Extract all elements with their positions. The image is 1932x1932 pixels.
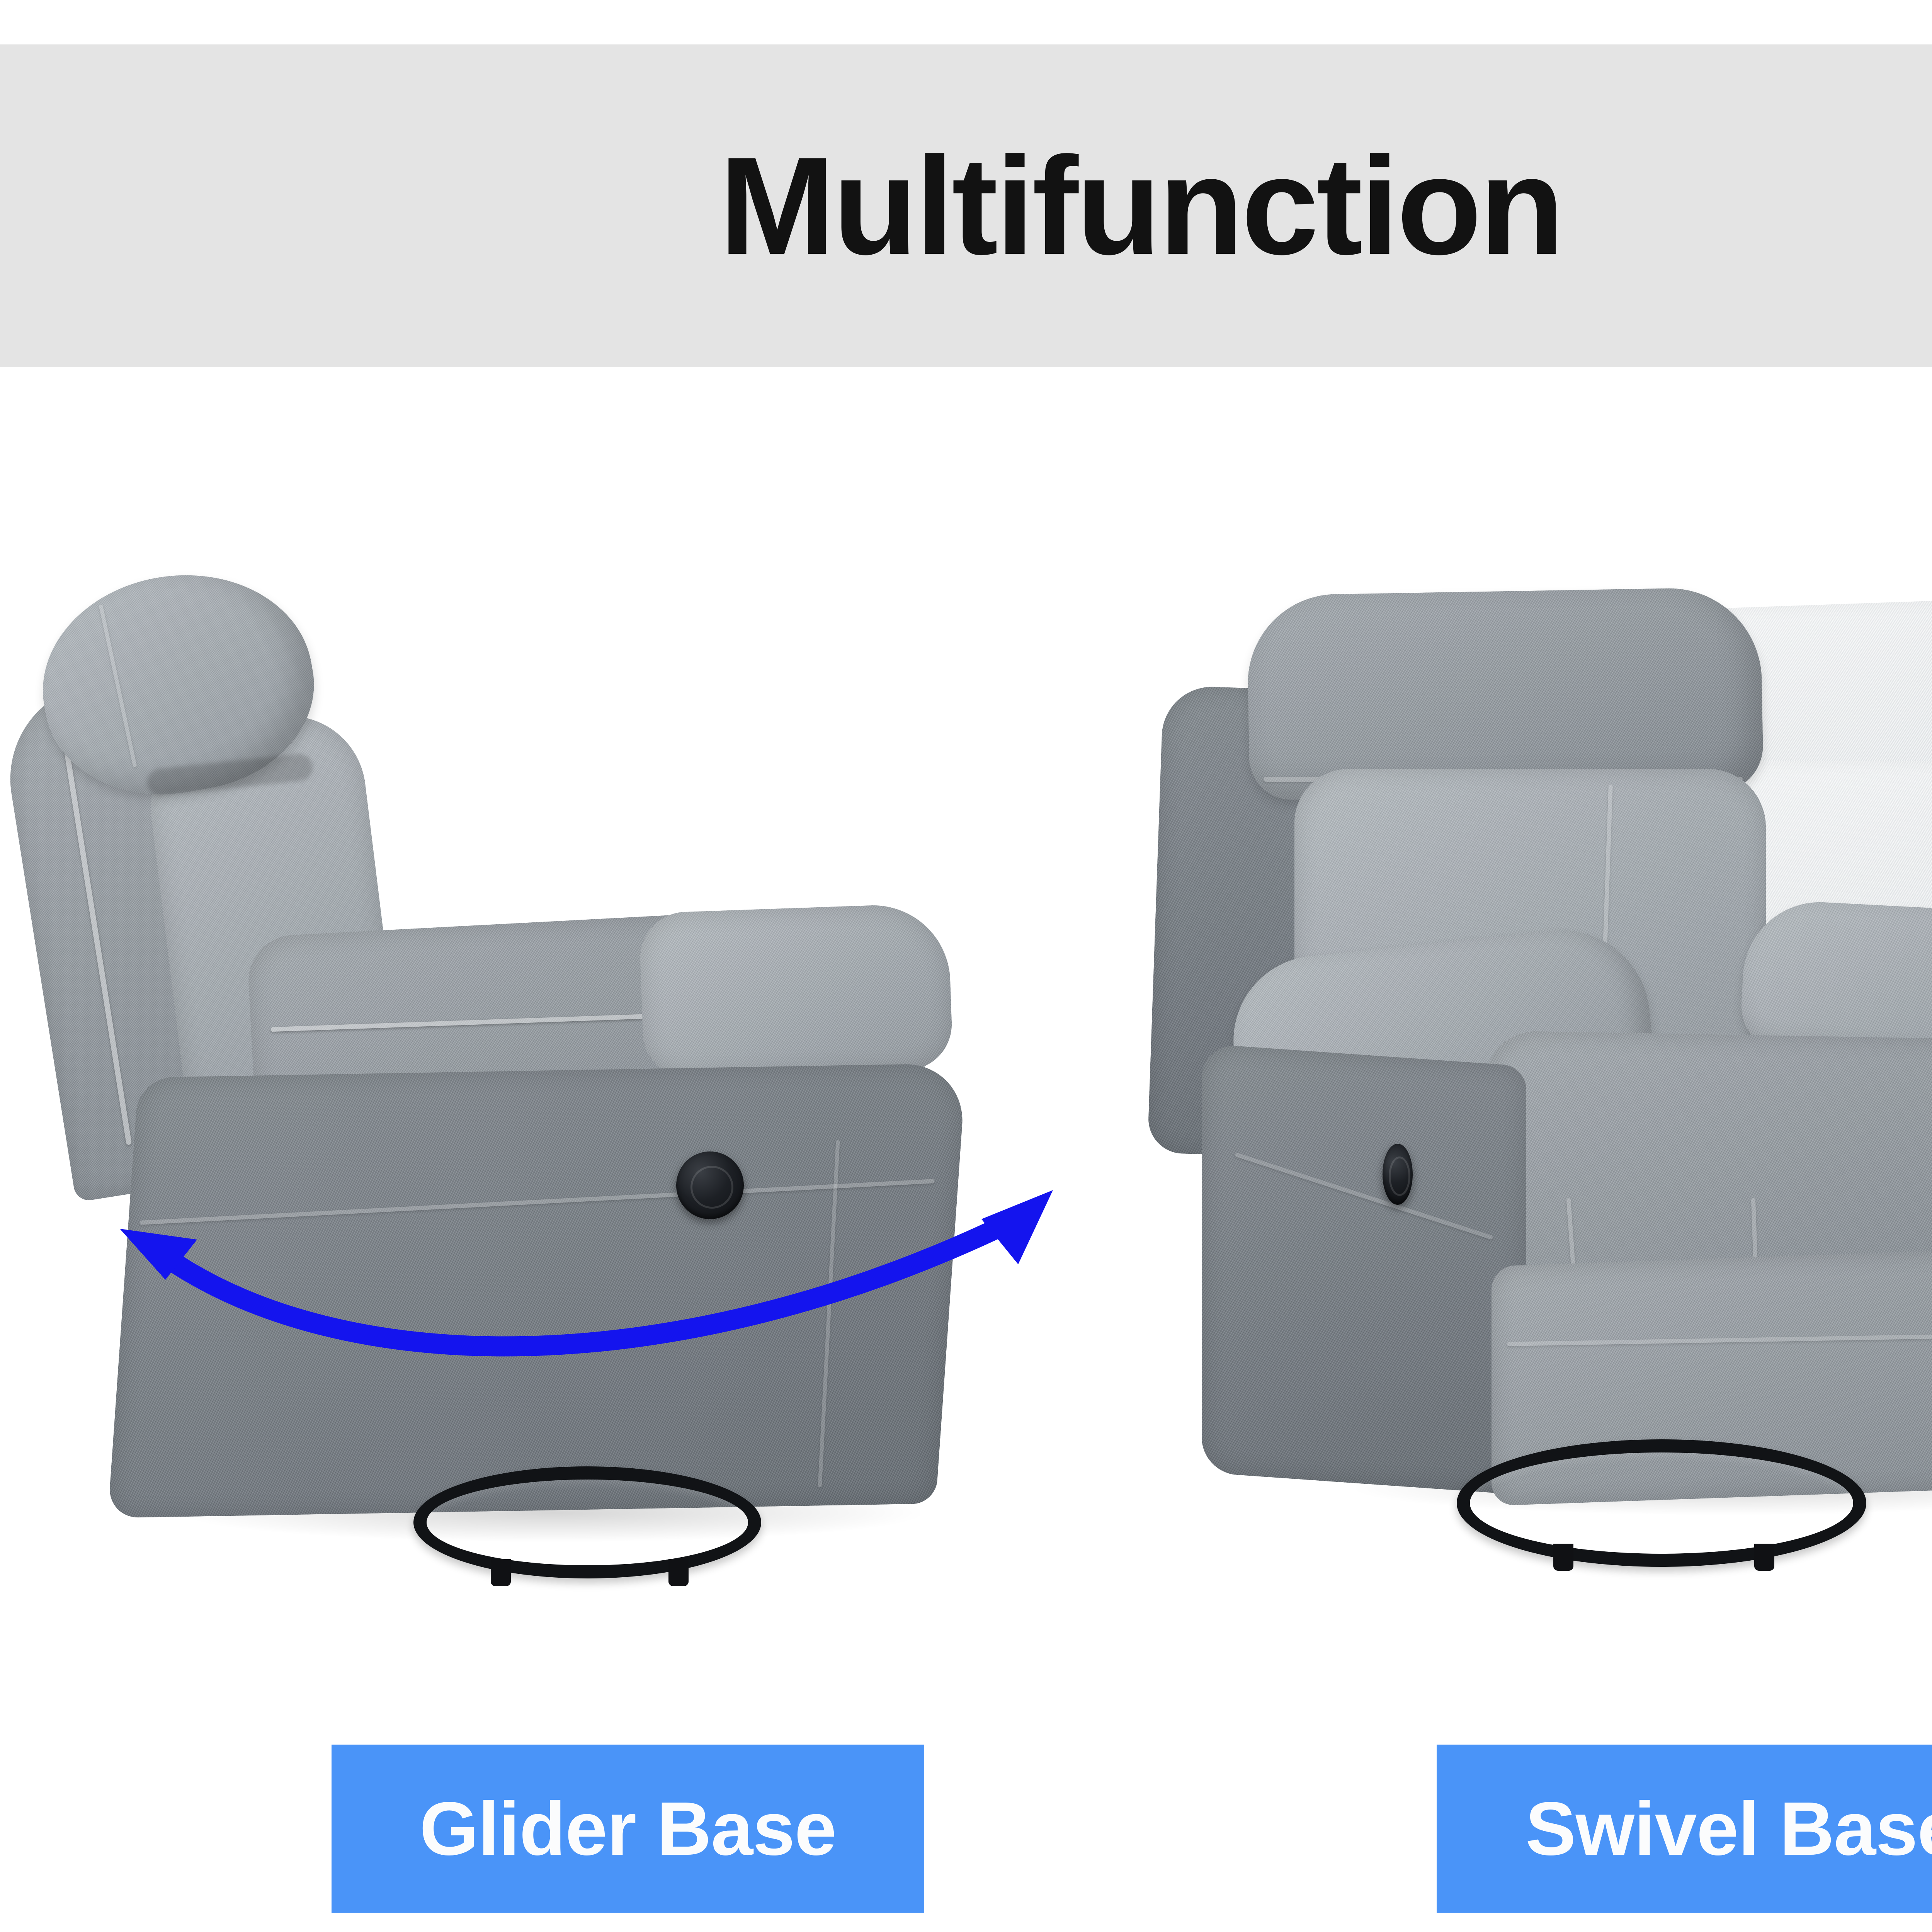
glider-recliner-button[interactable] xyxy=(676,1151,744,1219)
label-swivel-base: Swivel Base xyxy=(1526,1791,1932,1867)
panel-glider xyxy=(70,560,1151,1681)
glider-swivel-base-ring xyxy=(413,1466,761,1578)
swivel-base-foot-right xyxy=(1754,1544,1774,1571)
glider-armrest xyxy=(639,903,954,1080)
glider-base-foot-left xyxy=(491,1559,511,1586)
header-banner: Multifunction xyxy=(0,44,1932,367)
swivel-base-ring xyxy=(1457,1439,1866,1567)
glider-base-foot-right xyxy=(668,1559,689,1586)
glider-side-body xyxy=(108,1063,967,1518)
swivel-chair-illustration xyxy=(1182,560,1932,1681)
panel-swivel xyxy=(1182,560,1932,1681)
infographic-page: Multifunction xyxy=(0,0,1932,1932)
page-title: Multifunction xyxy=(719,136,1562,276)
label-box-swivel[interactable]: Swivel Base xyxy=(1437,1745,1932,1913)
swivel-headrest-cushion xyxy=(1246,587,1764,800)
label-glider-base: Glider Base xyxy=(420,1791,836,1867)
swivel-base-foot-left xyxy=(1553,1544,1573,1571)
label-box-glider[interactable]: Glider Base xyxy=(332,1745,924,1913)
swivel-side-body-left xyxy=(1202,1044,1526,1495)
glider-chair-illustration xyxy=(70,560,1151,1681)
swivel-recliner-button[interactable] xyxy=(1383,1144,1413,1205)
